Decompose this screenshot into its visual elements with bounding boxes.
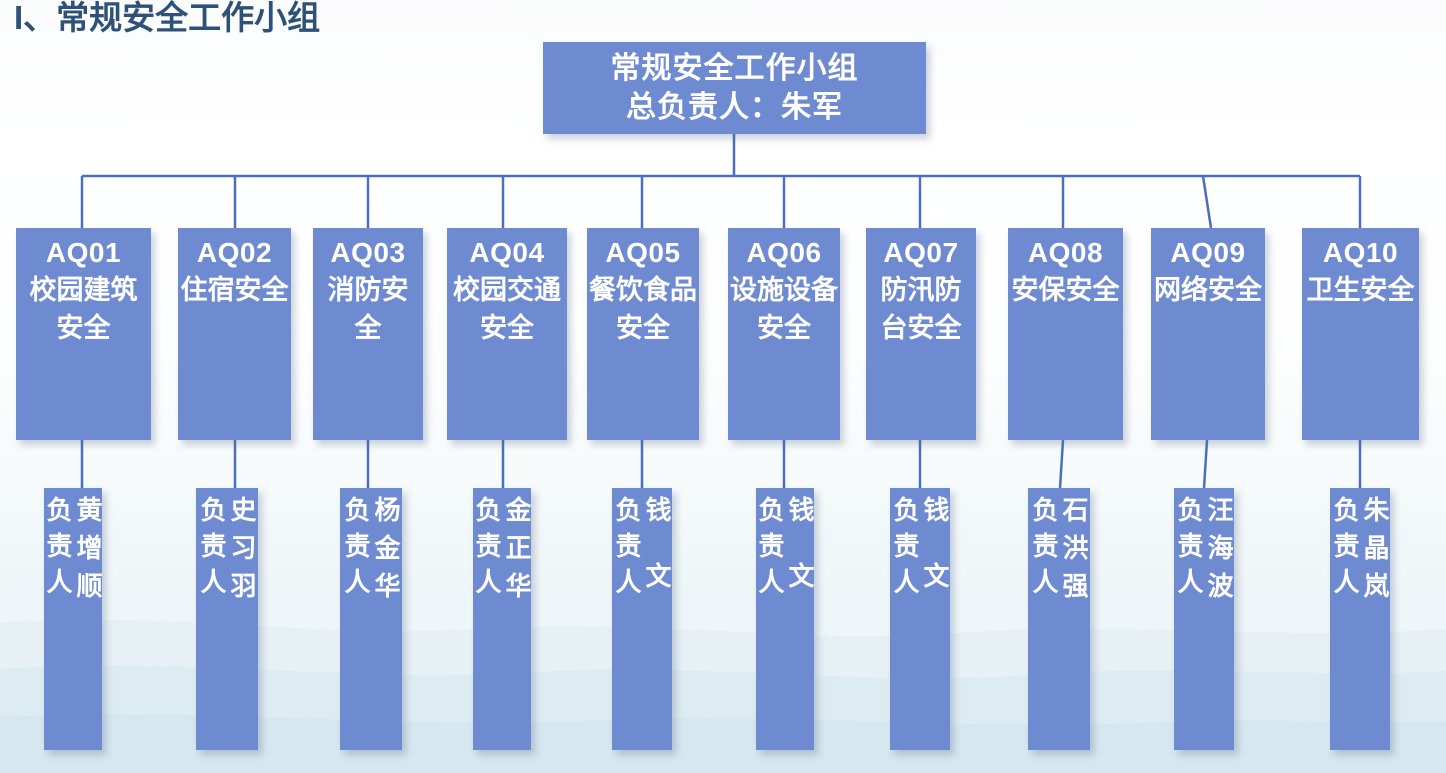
department-name: 校园交通安全	[447, 271, 567, 347]
department-name: 餐饮食品安全	[587, 271, 699, 347]
department-code: AQ09	[1170, 235, 1245, 271]
department-code: AQ01	[46, 235, 121, 271]
department-node[interactable]: AQ03消防安全	[313, 228, 423, 440]
owner-node[interactable]: 负责人汪海波	[1174, 488, 1234, 750]
department-code: AQ07	[883, 235, 958, 271]
owner-name: 石洪强	[1059, 488, 1089, 610]
owner-label: 负责人	[341, 488, 371, 604]
department-node[interactable]: AQ09网络安全	[1151, 228, 1265, 440]
owner-name: 黄增顺	[73, 488, 103, 610]
department-node[interactable]: AQ02住宿安全	[178, 228, 291, 440]
owner-label: 负责人	[197, 488, 227, 604]
owner-label: 负责人	[43, 488, 73, 604]
owner-name: 钱文	[920, 488, 950, 628]
owner-name: 杨金华	[371, 488, 401, 610]
root-node-leader: 总负责人：朱军	[626, 89, 843, 127]
department-name: 住宿安全	[178, 271, 291, 309]
connector-owner-aq09	[1204, 440, 1207, 488]
owner-name: 朱晶岚	[1360, 488, 1390, 610]
owner-node[interactable]: 负责人石洪强	[1028, 488, 1090, 750]
department-name: 设施设备安全	[728, 271, 840, 347]
owner-name: 汪海波	[1204, 488, 1234, 610]
owner-label: 负责人	[755, 488, 785, 604]
owner-label: 负责人	[890, 488, 920, 604]
department-node[interactable]: AQ08安保安全	[1008, 228, 1123, 440]
connector-drop-aq09	[1203, 176, 1211, 228]
department-node[interactable]: AQ06设施设备安全	[728, 228, 840, 440]
department-code: AQ04	[469, 235, 544, 271]
department-node[interactable]: AQ01校园建筑安全	[16, 228, 151, 440]
department-node[interactable]: AQ04校园交通安全	[447, 228, 567, 440]
department-code: AQ10	[1323, 235, 1398, 271]
department-node[interactable]: AQ07防汛防台安全	[866, 228, 976, 440]
department-name: 网络安全	[1151, 271, 1265, 309]
department-node[interactable]: AQ05餐饮食品安全	[587, 228, 699, 440]
department-code: AQ02	[197, 235, 272, 271]
owner-label: 负责人	[1029, 488, 1059, 604]
owner-node[interactable]: 负责人史习羽	[196, 488, 258, 750]
owner-label: 负责人	[1330, 488, 1360, 604]
root-node[interactable]: 常规安全工作小组 总负责人：朱军	[543, 42, 926, 134]
owner-label: 负责人	[472, 488, 502, 604]
owner-name: 金正华	[502, 488, 532, 610]
owner-node[interactable]: 负责人金正华	[473, 488, 531, 750]
department-node[interactable]: AQ10卫生安全	[1302, 228, 1419, 440]
owner-node[interactable]: 负责人钱文	[756, 488, 814, 750]
owner-name: 史习羽	[227, 488, 257, 610]
root-node-title: 常规安全工作小组	[611, 50, 859, 88]
department-name: 消防安全	[313, 271, 423, 347]
owner-name: 钱文	[785, 488, 815, 628]
org-chart-slide: I、常规安全工作小组	[0, 0, 1446, 773]
connector-owner-aq08	[1060, 440, 1063, 488]
department-name: 安保安全	[1008, 271, 1123, 309]
department-name: 防汛防台安全	[866, 271, 976, 347]
owner-node[interactable]: 负责人钱文	[612, 488, 672, 750]
department-code: AQ05	[605, 235, 680, 271]
department-name: 校园建筑安全	[16, 271, 151, 347]
owner-node[interactable]: 负责人杨金华	[340, 488, 402, 750]
department-name: 卫生安全	[1302, 271, 1419, 309]
page-title: I、常规安全工作小组	[14, 0, 320, 40]
department-code: AQ06	[746, 235, 821, 271]
owner-name: 钱文	[642, 488, 672, 628]
department-code: AQ08	[1028, 235, 1103, 271]
owner-label: 负责人	[612, 488, 642, 604]
owner-node[interactable]: 负责人黄增顺	[44, 488, 102, 750]
owner-node[interactable]: 负责人朱晶岚	[1330, 488, 1390, 750]
department-code: AQ03	[330, 235, 405, 271]
owner-node[interactable]: 负责人钱文	[890, 488, 950, 750]
owner-label: 负责人	[1174, 488, 1204, 604]
